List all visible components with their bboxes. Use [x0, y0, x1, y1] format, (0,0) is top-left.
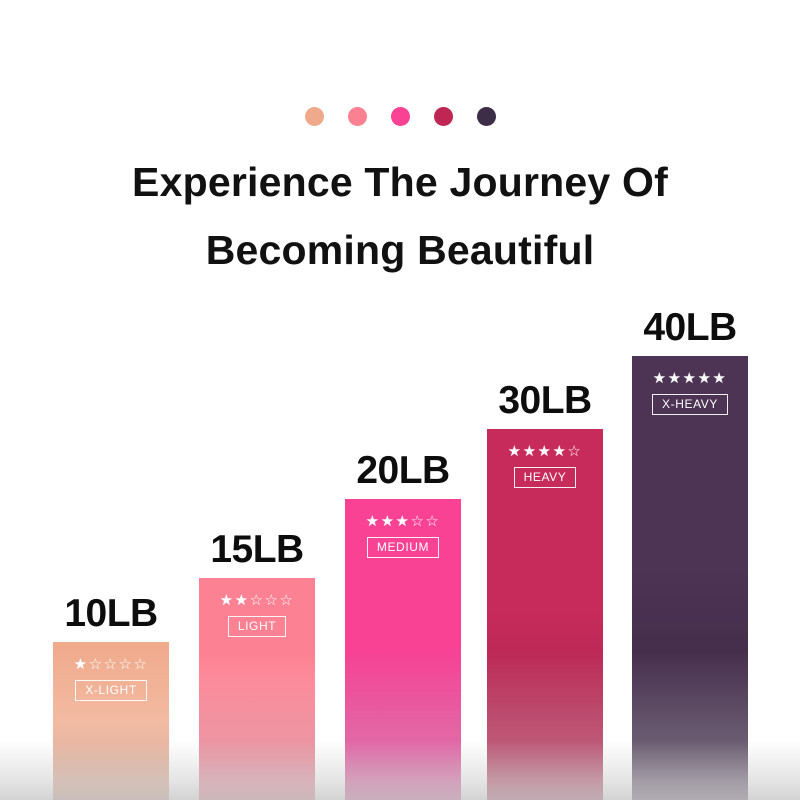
star-filled-icon: ★ [220, 592, 235, 609]
bar-column[interactable]: ★☆☆☆☆X-LIGHT [53, 642, 169, 800]
resistance-band-poster: Experience The Journey Of Becoming Beaut… [0, 0, 800, 800]
resistance-bar-chart: 10LB★☆☆☆☆X-LIGHT15LB★★☆☆☆LIGHT20LB★★★☆☆M… [0, 0, 800, 800]
star-empty-icon: ☆ [133, 656, 148, 673]
star-empty-icon: ☆ [89, 656, 104, 673]
bar-group-40lb[interactable]: 40LB★★★★★X-HEAVY [632, 356, 748, 800]
star-filled-icon: ★ [381, 513, 396, 530]
star-empty-icon: ☆ [104, 656, 119, 673]
star-filled-icon: ★ [508, 443, 523, 460]
star-filled-icon: ★ [668, 370, 683, 387]
level-badge: X-LIGHT [75, 680, 147, 701]
bar-column[interactable]: ★★★★★X-HEAVY [632, 356, 748, 800]
star-filled-icon: ★ [538, 443, 553, 460]
star-filled-icon: ★ [683, 370, 698, 387]
bar-weight-label: 10LB [53, 594, 169, 642]
star-rating: ★★★★☆ [487, 443, 603, 460]
bar-weight-label: 30LB [487, 381, 603, 429]
star-filled-icon: ★ [366, 513, 381, 530]
bar-column[interactable]: ★★☆☆☆LIGHT [199, 578, 315, 800]
star-filled-icon: ★ [523, 443, 538, 460]
star-empty-icon: ☆ [567, 443, 582, 460]
star-empty-icon: ☆ [250, 592, 265, 609]
star-filled-icon: ★ [712, 370, 727, 387]
bar-fill [632, 356, 748, 800]
bar-column[interactable]: ★★★★☆HEAVY [487, 429, 603, 800]
bar-weight-label: 40LB [632, 308, 748, 356]
bar-column[interactable]: ★★★☆☆MEDIUM [345, 499, 461, 800]
star-rating: ★★☆☆☆ [199, 592, 315, 609]
level-badge: LIGHT [228, 616, 286, 637]
star-filled-icon: ★ [697, 370, 712, 387]
bar-weight-label: 20LB [345, 451, 461, 499]
star-filled-icon: ★ [552, 443, 567, 460]
bar-group-20lb[interactable]: 20LB★★★☆☆MEDIUM [345, 499, 461, 800]
star-empty-icon: ☆ [118, 656, 133, 673]
star-rating: ★★★☆☆ [345, 513, 461, 530]
level-badge: X-HEAVY [652, 394, 728, 415]
bar-weight-label: 15LB [199, 530, 315, 578]
star-filled-icon: ★ [653, 370, 668, 387]
bar-inner-content: ★☆☆☆☆X-LIGHT [53, 642, 169, 701]
bar-group-15lb[interactable]: 15LB★★☆☆☆LIGHT [199, 578, 315, 800]
star-rating: ★☆☆☆☆ [53, 656, 169, 673]
star-filled-icon: ★ [74, 656, 89, 673]
star-empty-icon: ☆ [279, 592, 294, 609]
star-filled-icon: ★ [235, 592, 250, 609]
star-empty-icon: ☆ [425, 513, 440, 530]
bar-group-10lb[interactable]: 10LB★☆☆☆☆X-LIGHT [53, 642, 169, 800]
level-badge: MEDIUM [367, 537, 439, 558]
bar-inner-content: ★★★☆☆MEDIUM [345, 499, 461, 558]
bar-group-30lb[interactable]: 30LB★★★★☆HEAVY [487, 429, 603, 800]
level-badge: HEAVY [514, 467, 577, 488]
star-empty-icon: ☆ [264, 592, 279, 609]
bar-inner-content: ★★☆☆☆LIGHT [199, 578, 315, 637]
bar-inner-content: ★★★★☆HEAVY [487, 429, 603, 488]
star-filled-icon: ★ [396, 513, 411, 530]
bar-inner-content: ★★★★★X-HEAVY [632, 356, 748, 415]
star-empty-icon: ☆ [410, 513, 425, 530]
star-rating: ★★★★★ [632, 370, 748, 387]
